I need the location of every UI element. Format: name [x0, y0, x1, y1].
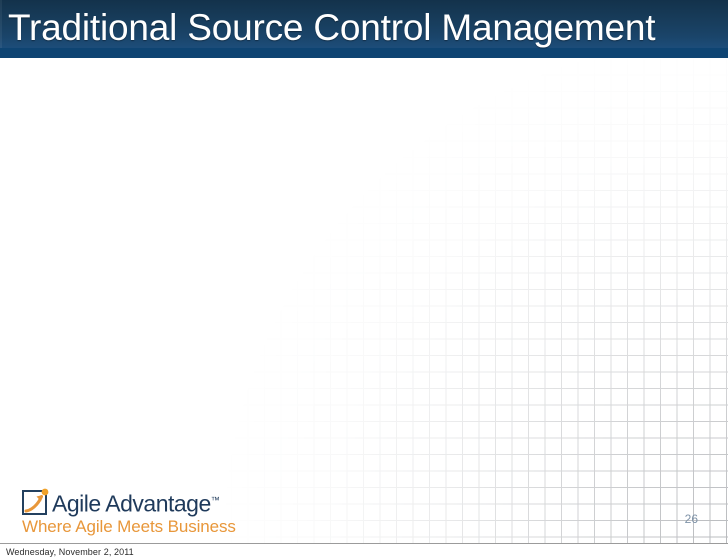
slide-title-bar: Traditional Source Control Management	[0, 0, 728, 58]
slide: Traditional Source Control Management Ag…	[0, 0, 728, 560]
agile-advantage-logo: Agile Advantage™ Where Agile Meets Busin…	[22, 488, 237, 538]
slide-title: Traditional Source Control Management	[8, 3, 724, 53]
slide-footer: Wednesday, November 2, 2011	[0, 543, 728, 560]
logo-wordmark-text: Agile Advantage	[52, 490, 211, 516]
logo-wordmark: Agile Advantage™	[52, 488, 220, 517]
page-number: 26	[685, 512, 698, 526]
logo-tagline: Where Agile Meets Business	[22, 517, 237, 537]
logo-primary-row: Agile Advantage™	[22, 488, 237, 516]
footer-date: Wednesday, November 2, 2011	[6, 547, 134, 557]
slide-content-area	[0, 58, 728, 543]
trademark-symbol: ™	[211, 495, 220, 505]
agile-advantage-growth-arrow-icon	[22, 490, 47, 515]
title-bar-left-edge	[0, 0, 2, 58]
